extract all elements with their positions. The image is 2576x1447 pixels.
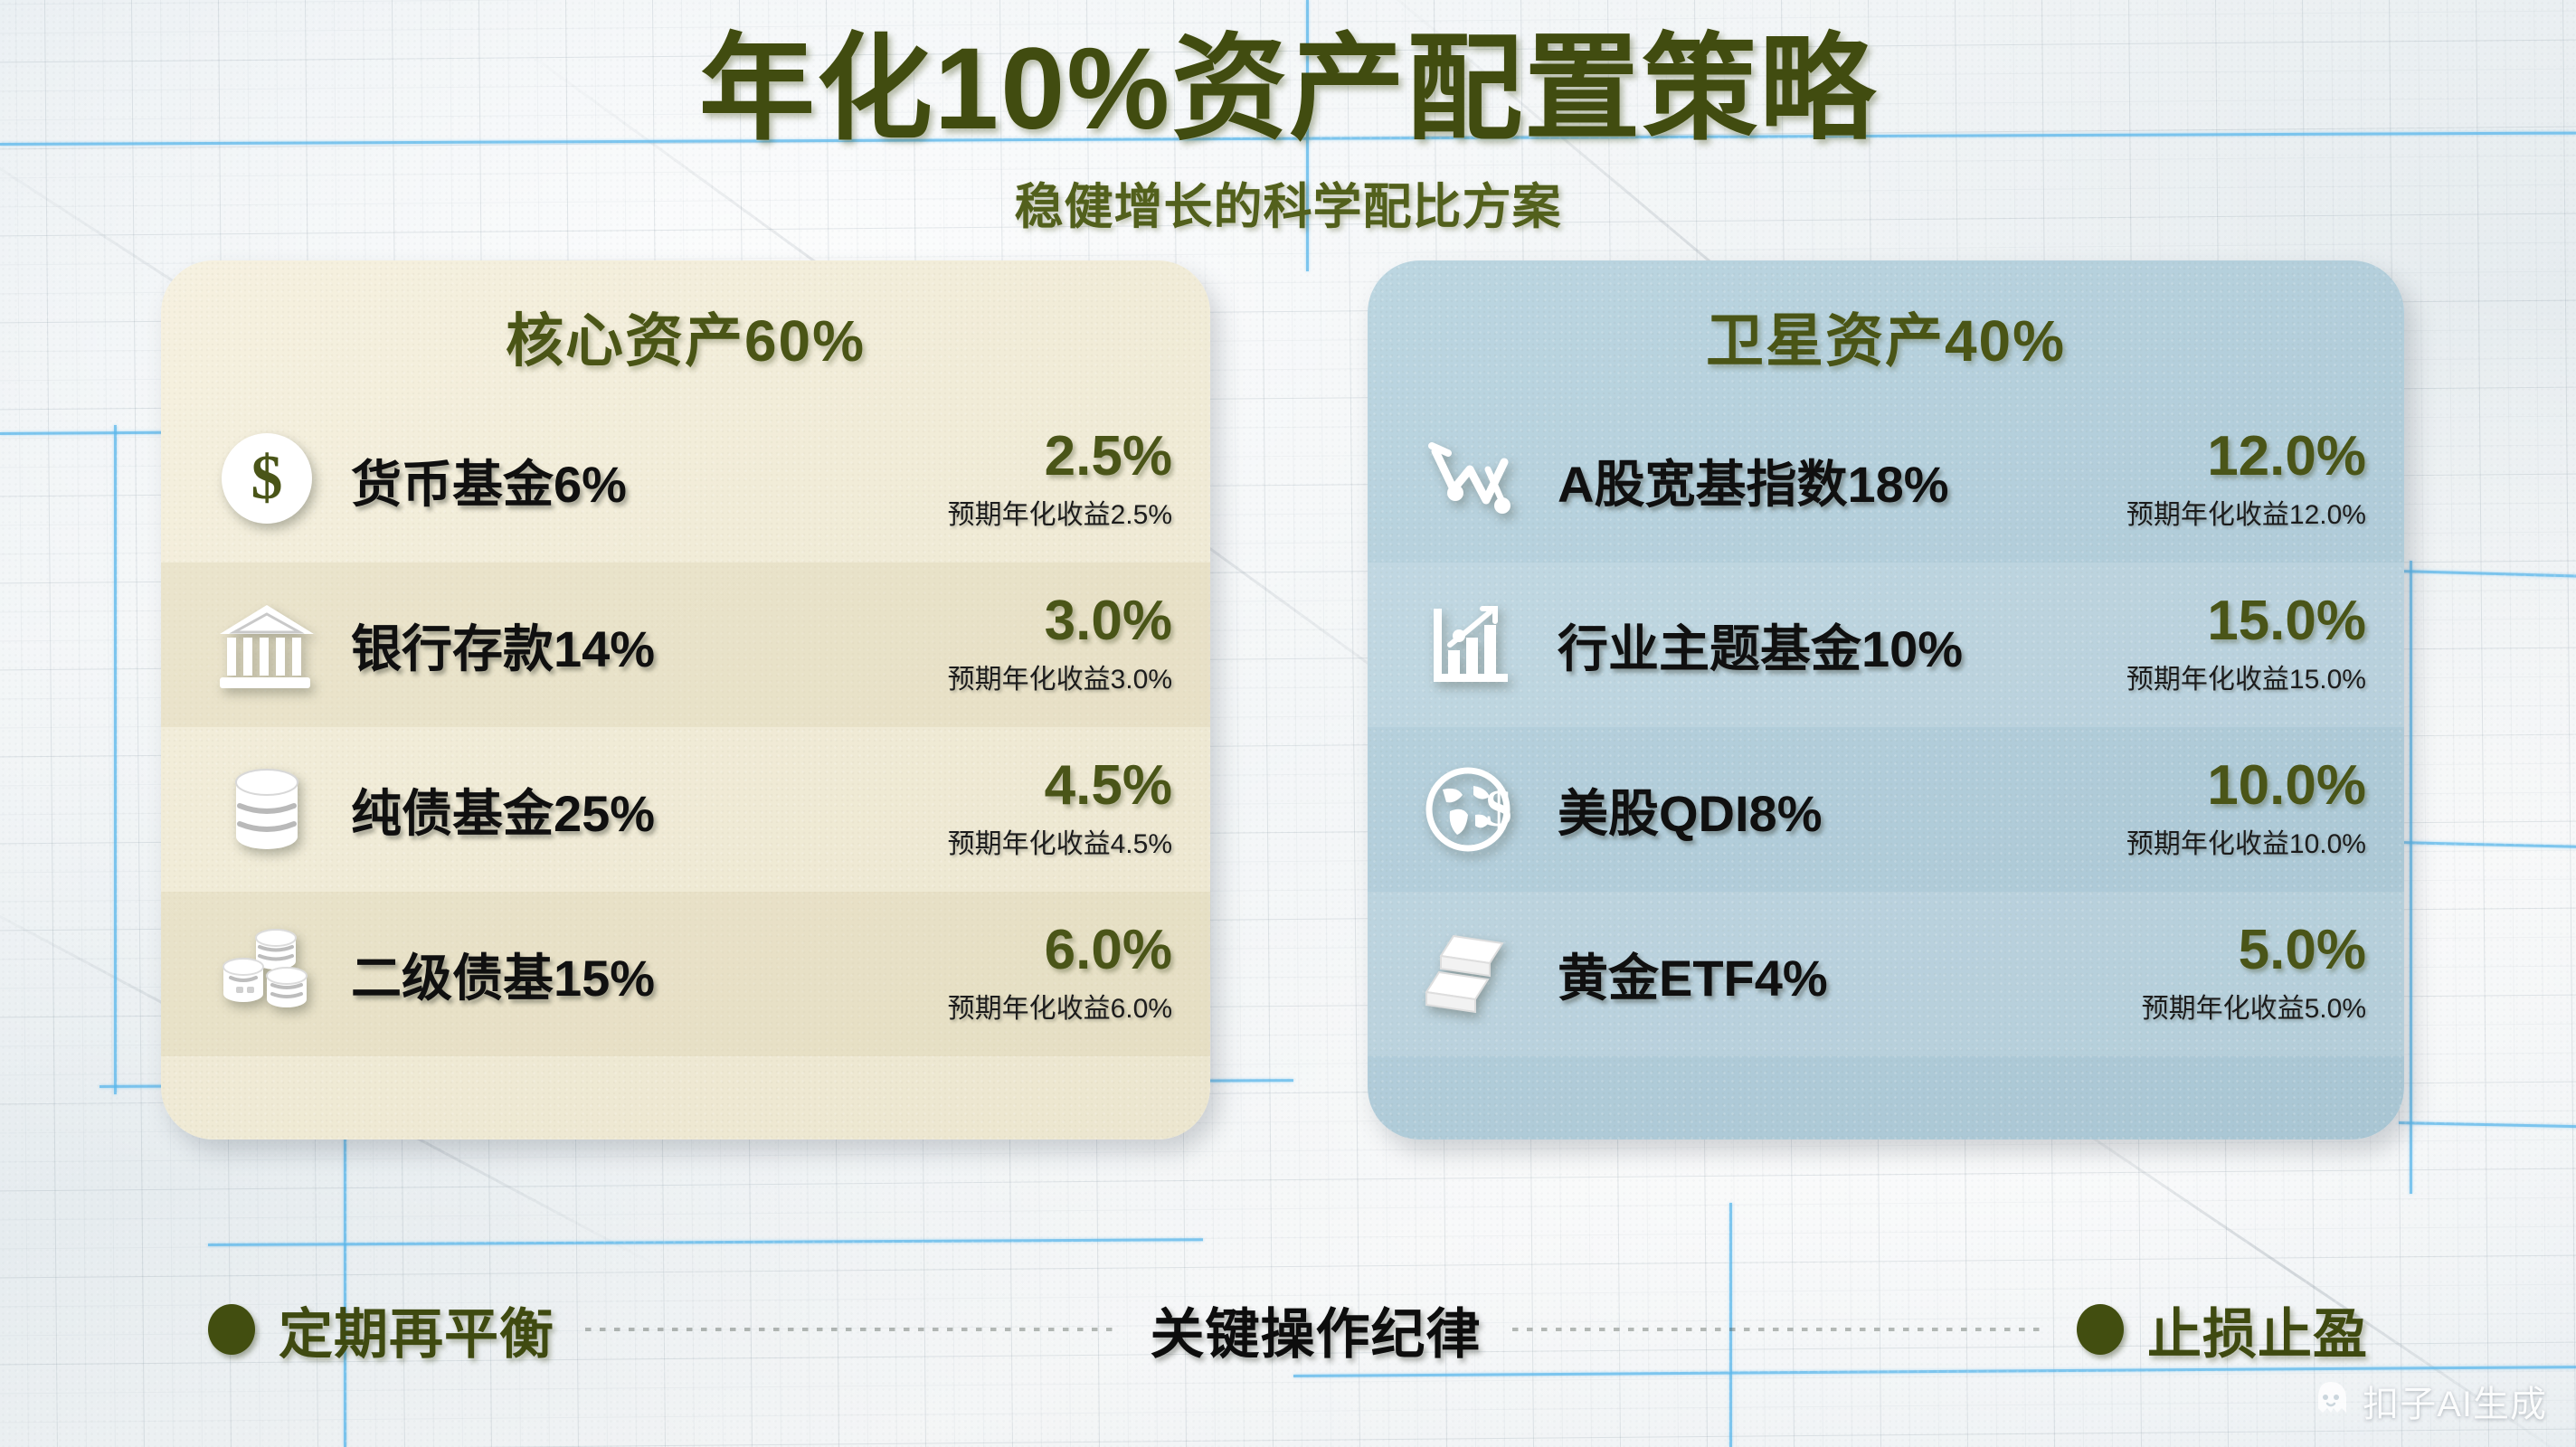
row-label: 货币基金6%	[320, 444, 874, 517]
table-row[interactable]: 纯债基金25% 4.5% 预期年化收益4.5%	[161, 727, 1210, 892]
row-label: 纯债基金25%	[320, 773, 874, 846]
card-satellite-assets: 卫星资产40% A股宽基指数18% 12.0%	[1368, 260, 2404, 1140]
row-label: 行业主题基金10%	[1527, 609, 2068, 682]
page-subtitle: 稳健增长的科学配比方案	[0, 166, 2576, 238]
table-row[interactable]: $ 货币基金6% 2.5% 预期年化收益2.5%	[161, 398, 1210, 563]
footer-item-right[interactable]: 止损止盈	[2077, 1291, 2368, 1369]
bank-icon	[213, 591, 320, 698]
row-label: 黄金ETF4%	[1527, 938, 2068, 1011]
card-core-rows: $ 货币基金6% 2.5% 预期年化收益2.5%	[161, 398, 1210, 1056]
footer-center-label: 关键操作纪律	[1151, 1291, 1482, 1369]
row-label: 美股QDI8%	[1527, 773, 2068, 846]
allocation-cards: 核心资产60% $ 货币基金6% 2.5% 预期年化收益2.5%	[0, 260, 2576, 1174]
bullet-dot-icon	[2077, 1304, 2124, 1355]
watermark-label: 扣子AI生成	[2363, 1375, 2547, 1427]
footer-connector-right	[1512, 1328, 2047, 1331]
row-caption: 预期年化收益6.0%	[874, 986, 1172, 1026]
watermark: 扣子AI生成	[2310, 1375, 2547, 1427]
row-value: 4.5%	[874, 758, 1172, 814]
dollar-coin-icon: $	[213, 427, 320, 534]
row-metrics: 2.5% 预期年化收益2.5%	[874, 429, 1172, 532]
row-value: 15.0%	[2068, 593, 2366, 649]
row-caption: 预期年化收益10.0%	[2068, 821, 2366, 861]
row-value: 6.0%	[874, 922, 1172, 979]
row-value: 3.0%	[874, 593, 1172, 649]
row-caption: 预期年化收益2.5%	[874, 492, 1172, 532]
footer-right-label: 止损止盈	[2147, 1291, 2368, 1369]
row-metrics: 4.5% 预期年化收益4.5%	[874, 758, 1172, 861]
row-value: 5.0%	[2068, 922, 2366, 979]
row-metrics: 5.0% 预期年化收益5.0%	[2068, 922, 2366, 1026]
coin-stack-icon	[213, 921, 320, 1027]
bar-chart-icon	[1420, 591, 1527, 698]
table-row[interactable]: 黄金ETF4% 5.0% 预期年化收益5.0%	[1368, 892, 2404, 1056]
table-row[interactable]: A股宽基指数18% 12.0% 预期年化收益12.0%	[1368, 398, 2404, 563]
table-row[interactable]: 行业主题基金10% 15.0% 预期年化收益15.0%	[1368, 563, 2404, 727]
ghost-mascot-icon	[2310, 1378, 2352, 1424]
table-row[interactable]: 二级债基15% 6.0% 预期年化收益6.0%	[161, 892, 1210, 1056]
footer-connector-left	[585, 1328, 1120, 1331]
row-label: 二级债基15%	[320, 938, 874, 1011]
poster-canvas: 年化10%资产配置策略 稳健增长的科学配比方案 核心资产60% $ 货币基金6%…	[0, 0, 2576, 1447]
globe-dollar-icon: $	[1420, 756, 1527, 863]
line-chart-icon	[1420, 427, 1527, 534]
footer-discipline-bar: 定期再平衡 关键操作纪律 止损止盈	[0, 1275, 2576, 1384]
table-row[interactable]: 银行存款14% 3.0% 预期年化收益3.0%	[161, 563, 1210, 727]
row-caption: 预期年化收益12.0%	[2068, 492, 2366, 532]
row-value: 10.0%	[2068, 758, 2366, 814]
row-caption: 预期年化收益3.0%	[874, 657, 1172, 696]
row-metrics: 12.0% 预期年化收益12.0%	[2068, 429, 2366, 532]
card-core-title: 核心资产60%	[161, 260, 1210, 378]
footer-left-label: 定期再平衡	[279, 1291, 554, 1369]
row-caption: 预期年化收益15.0%	[2068, 657, 2366, 696]
database-icon	[213, 756, 320, 863]
footer-item-left[interactable]: 定期再平衡	[208, 1291, 554, 1369]
card-satellite-title: 卫星资产40%	[1368, 260, 2404, 378]
poster-header: 年化10%资产配置策略 稳健增长的科学配比方案	[0, 27, 2576, 238]
row-value: 12.0%	[2068, 429, 2366, 485]
svg-text:$: $	[1486, 779, 1512, 837]
row-value: 2.5%	[874, 429, 1172, 485]
row-caption: 预期年化收益5.0%	[2068, 986, 2366, 1026]
row-caption: 预期年化收益4.5%	[874, 821, 1172, 861]
row-label: A股宽基指数18%	[1527, 444, 2068, 517]
page-title: 年化10%资产配置策略	[0, 27, 2576, 152]
gold-bars-icon	[1420, 921, 1527, 1027]
bullet-dot-icon	[208, 1304, 255, 1355]
row-metrics: 10.0% 预期年化收益10.0%	[2068, 758, 2366, 861]
table-row[interactable]: $ 美股QDI8% 10.0% 预期年化收益10.0%	[1368, 727, 2404, 892]
row-metrics: 15.0% 预期年化收益15.0%	[2068, 593, 2366, 696]
row-label: 银行存款14%	[320, 609, 874, 682]
row-metrics: 6.0% 预期年化收益6.0%	[874, 922, 1172, 1026]
svg-text:$: $	[251, 443, 283, 513]
row-metrics: 3.0% 预期年化收益3.0%	[874, 593, 1172, 696]
card-core-assets: 核心资产60% $ 货币基金6% 2.5% 预期年化收益2.5%	[161, 260, 1210, 1140]
card-satellite-rows: A股宽基指数18% 12.0% 预期年化收益12.0%	[1368, 398, 2404, 1056]
